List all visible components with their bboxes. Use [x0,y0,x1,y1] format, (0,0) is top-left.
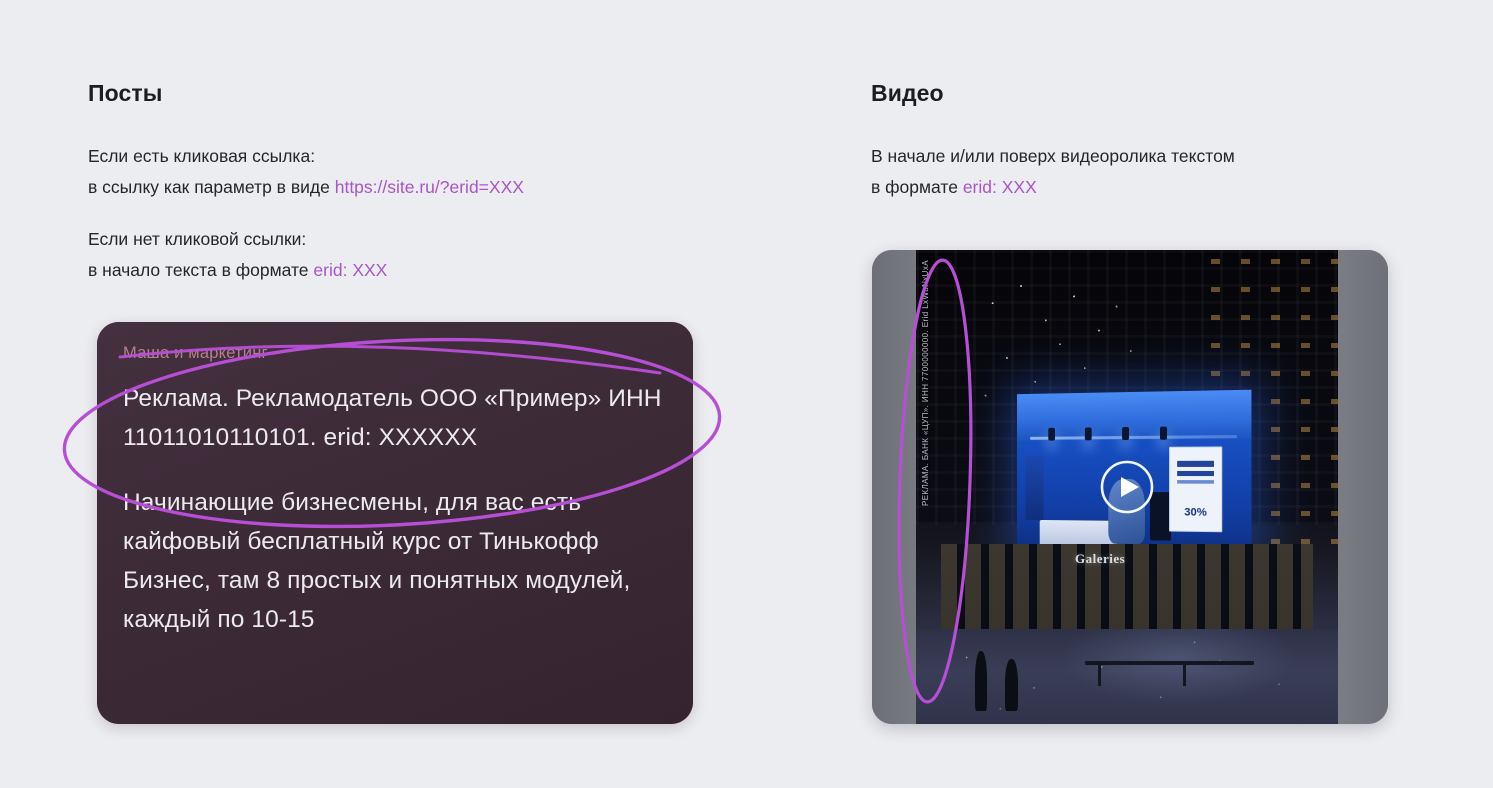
play-icon[interactable] [1100,460,1154,514]
spotlight [1160,427,1167,440]
video-letterbox-left [872,250,916,724]
post-channel-name: Маша и маркетинг [123,344,667,363]
slide-canvas: Посты Если есть кликовая ссылка: в ссылк… [0,0,1493,788]
posts-block2-line2: в начало текста в формате erid: XXX [88,255,387,286]
video-block1-line2: в формате erid: XXX [871,172,1037,203]
video-ad-disclosure-text: РЕКЛАМА. БАНК «ЦУП». ИНН 7700000000. Eri… [921,260,931,506]
posts-heading: Посты [88,80,162,107]
posts-block2-line2-prefix: в начало текста в формате [88,260,313,280]
podium-glazing [941,544,1312,639]
posts-erid-url[interactable]: https://site.ru/?erid=XXX [335,177,524,197]
store-counter [1039,520,1117,547]
poster-text-bars [1177,461,1214,496]
pedestrian [1005,659,1018,711]
spotlight [1085,428,1092,441]
video-block1-line1: В начале и/или поверх видеоролика тексто… [871,141,1235,172]
pedestrian [975,651,987,711]
spotlight [1048,428,1055,441]
post-card-mockup: Маша и маркетинг Реклама. Рекламодатель … [97,322,693,724]
snowy-plaza [916,629,1338,724]
video-thumbnail-image: 30% Galeries [916,250,1338,724]
billboard-poster: 30% [1169,446,1222,532]
posts-block1-line2-prefix: в ссылку как параметр в виде [88,177,335,197]
posts-erid-token: erid: XXX [313,260,387,280]
spotlight [1122,428,1129,441]
posts-block1-line1: Если есть кликовая ссылка: [88,141,315,172]
posts-block1-line2: в ссылку как параметр в виде https://sit… [88,172,524,203]
retail-podium: Galeries [941,544,1312,639]
store-rack [1026,457,1044,520]
podium-brand-sign: Galeries [1075,551,1125,567]
video-heading: Видео [871,80,944,107]
poster-discount-value: 30% [1170,507,1221,520]
post-body-text: Начинающие бизнесмены, для вас есть кайф… [123,483,667,639]
video-letterbox-right [1338,250,1388,724]
post-ad-disclosure: Реклама. Рекламодатель ООО «Пример» ИНН … [123,379,667,457]
video-card-mockup[interactable]: 30% Galeries РЕКЛАМА. БАНК «ЦУП». ИНН 77… [872,250,1388,724]
video-block1-line2-prefix: в формате [871,177,963,197]
posts-block2-line1: Если нет кликовой ссылки: [88,224,306,255]
street-bench [1085,661,1254,665]
post-card-content: Маша и маркетинг Реклама. Рекламодатель … [97,322,693,639]
video-ad-disclosure: РЕКЛАМА. БАНК «ЦУП». ИНН 7700000000. Eri… [919,260,933,700]
video-erid-token: erid: XXX [963,177,1037,197]
